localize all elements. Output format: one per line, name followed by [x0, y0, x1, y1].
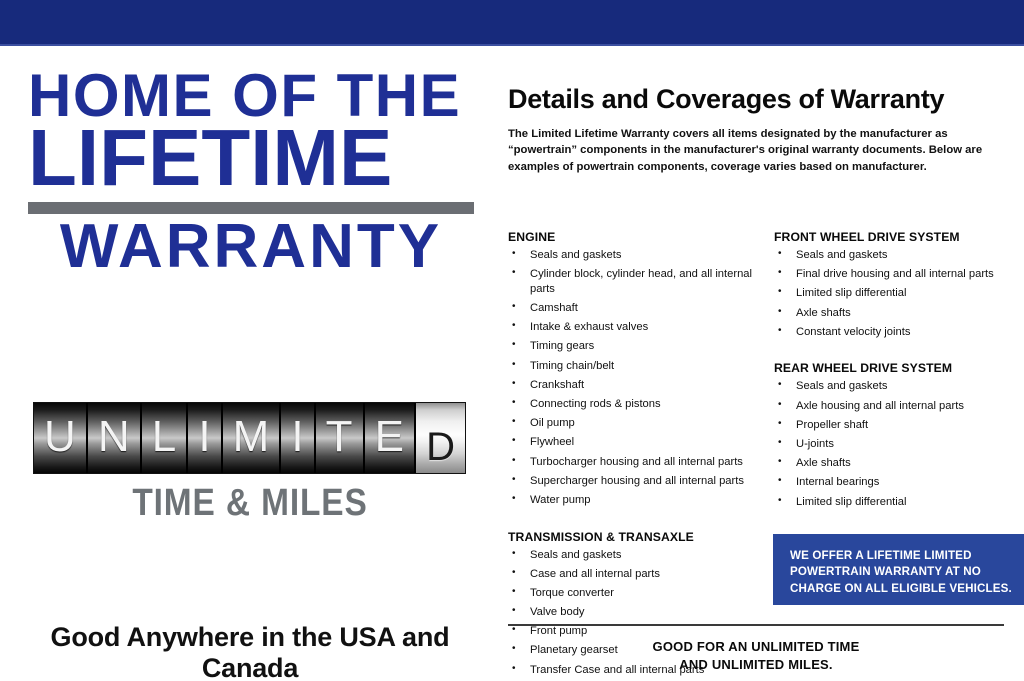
- odometer-cell-8: E: [365, 403, 416, 473]
- odometer-cell-1: U: [34, 403, 88, 473]
- odometer-cell-6: I: [281, 403, 315, 473]
- odometer-char: L: [152, 415, 176, 459]
- odometer-cell-7: T: [316, 403, 365, 473]
- footer-note: GOOD FOR AN UNLIMITED TIME AND UNLIMITED…: [508, 638, 1004, 675]
- coverage-section-title: ENGINE: [508, 230, 774, 244]
- warranty-poster: HOME OF THE LIFETIME WARRANTY UNLIMITED …: [0, 0, 1024, 681]
- logo-line-lifetime: LIFETIME: [28, 120, 476, 195]
- coverage-section: FRONT WHEEL DRIVE SYSTEMSeals and gasket…: [774, 230, 1024, 339]
- coverage-item: U-joints: [774, 437, 1024, 452]
- left-panel: HOME OF THE LIFETIME WARRANTY UNLIMITED …: [0, 46, 500, 681]
- coverage-item: Crankshaft: [508, 378, 774, 393]
- coverage-item: Seals and gaskets: [774, 248, 1024, 263]
- intro-paragraph: The Limited Lifetime Warranty covers all…: [508, 126, 1008, 175]
- odometer-cell-4: I: [188, 403, 222, 473]
- coverage-item: Limited slip differential: [774, 495, 1024, 510]
- coverage-columns: ENGINESeals and gasketsCylinder block, c…: [508, 230, 1024, 681]
- coverage-item: Seals and gaskets: [508, 548, 774, 563]
- logo-line-warranty: WARRANTY: [28, 218, 474, 276]
- coverage-item: Turbocharger housing and all internal pa…: [508, 455, 774, 470]
- coverage-item: Timing chain/belt: [508, 359, 774, 374]
- coverage-section: REAR WHEEL DRIVE SYSTEMSeals and gaskets…: [774, 361, 1024, 509]
- coverage-item: Internal bearings: [774, 475, 1024, 490]
- coverage-item: Water pump: [508, 493, 774, 508]
- coverage-item: Front pump: [508, 624, 774, 639]
- coverage-item-list: Seals and gasketsFinal drive housing and…: [774, 248, 1024, 339]
- odometer-cell-5: M: [223, 403, 282, 473]
- coverage-item: Timing gears: [508, 339, 774, 354]
- coverage-item: Seals and gaskets: [508, 248, 774, 263]
- coverage-item: Flywheel: [508, 435, 774, 450]
- coverage-section: ENGINESeals and gasketsCylinder block, c…: [508, 230, 774, 508]
- coverage-item: Propeller shaft: [774, 418, 1024, 433]
- page-title: Details and Coverages of Warranty: [508, 84, 1016, 115]
- odometer-char: U: [44, 415, 76, 459]
- coverage-section-title: FRONT WHEEL DRIVE SYSTEM: [774, 230, 1024, 244]
- coverage-item: Axle shafts: [774, 456, 1024, 471]
- coverage-item: Torque converter: [508, 586, 774, 601]
- right-panel: Details and Coverages of Warranty The Li…: [500, 46, 1024, 681]
- coverage-item: Cylinder block, cylinder head, and all i…: [508, 267, 774, 297]
- coverage-item: Seals and gaskets: [774, 379, 1024, 394]
- odometer-char: M: [233, 415, 270, 459]
- footer-divider: [508, 624, 1004, 626]
- coverage-item-list: Seals and gasketsAxle housing and all in…: [774, 379, 1024, 509]
- coverage-item: Axle housing and all internal parts: [774, 399, 1024, 414]
- coverage-item: Connecting rods & pistons: [508, 397, 774, 412]
- coverage-item: Constant velocity joints: [774, 325, 1024, 340]
- coverage-item: Camshaft: [508, 301, 774, 316]
- odometer-cell-2: N: [88, 403, 142, 473]
- coverage-item: Case and all internal parts: [508, 567, 774, 582]
- odometer-caption: TIME & MILES: [30, 482, 470, 525]
- odometer-char: N: [98, 415, 130, 459]
- coverage-item: Oil pump: [508, 416, 774, 431]
- coverage-item: Valve body: [508, 605, 774, 620]
- odometer-cell-3: L: [142, 403, 189, 473]
- coverage-item: Axle shafts: [774, 306, 1024, 321]
- footer-note-line-2: AND UNLIMITED MILES.: [508, 656, 1004, 674]
- footer-note-line-1: GOOD FOR AN UNLIMITED TIME: [508, 638, 1004, 656]
- odometer-char: I: [198, 415, 210, 459]
- odometer-char: T: [326, 415, 353, 459]
- coverage-section-title: REAR WHEEL DRIVE SYSTEM: [774, 361, 1024, 375]
- odometer-cell-9: D: [416, 403, 465, 473]
- coverage-item-list: Seals and gasketsCylinder block, cylinde…: [508, 248, 774, 508]
- lifetime-warranty-logo: HOME OF THE LIFETIME WARRANTY: [28, 68, 476, 276]
- coverage-column-left: ENGINESeals and gasketsCylinder block, c…: [508, 230, 774, 681]
- coverage-item: Final drive housing and all internal par…: [774, 267, 1024, 282]
- odometer-char: D: [426, 427, 455, 467]
- odometer-char: E: [375, 415, 404, 459]
- offer-callout-box: WE OFFER A LIFETIME LIMITED POWERTRAIN W…: [773, 534, 1024, 605]
- top-navy-band: [0, 0, 1024, 44]
- coverage-item: Supercharger housing and all internal pa…: [508, 474, 774, 489]
- odometer-graphic: UNLIMITED: [33, 402, 466, 474]
- coverage-item: Limited slip differential: [774, 286, 1024, 301]
- odometer-char: I: [291, 415, 303, 459]
- coverage-column-right: FRONT WHEEL DRIVE SYSTEMSeals and gasket…: [774, 230, 1024, 681]
- coverage-section-title: TRANSMISSION & TRANSAXLE: [508, 530, 774, 544]
- coverage-item: Intake & exhaust valves: [508, 320, 774, 335]
- coverage-area-tagline: Good Anywhere in the USA and Canada: [0, 622, 500, 681]
